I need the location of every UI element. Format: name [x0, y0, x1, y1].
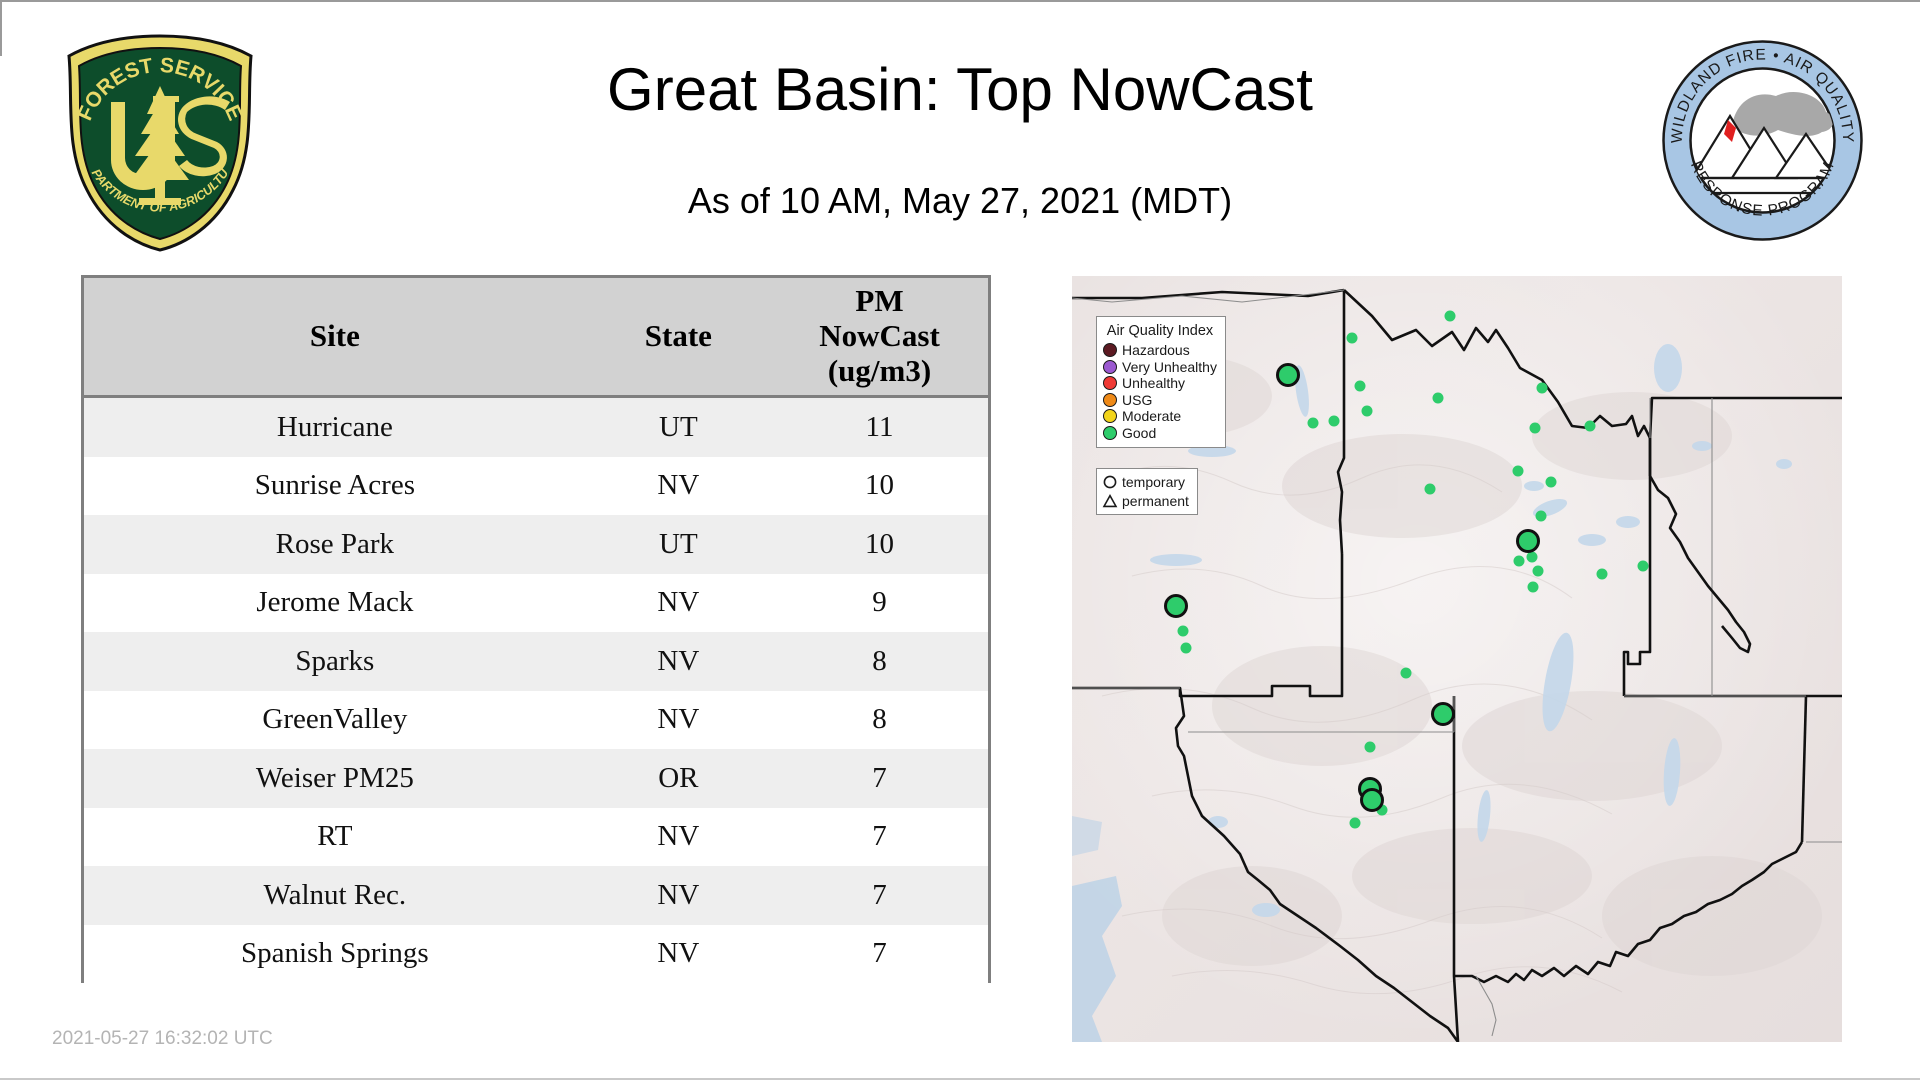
table-row[interactable]: RT NV 7: [84, 808, 988, 867]
monitor-site-dot[interactable]: [1445, 311, 1456, 322]
cell-state: NV: [586, 632, 771, 691]
monitor-site-dot[interactable]: [1362, 406, 1373, 417]
cell-pm: 10: [771, 457, 988, 516]
aqi-swatch-moderate-icon: [1103, 409, 1117, 423]
monitor-site-dot[interactable]: [1365, 742, 1376, 753]
aqi-label-unhealthy: Unhealthy: [1122, 376, 1185, 390]
aqi-legend-item-usg: USG: [1103, 392, 1217, 409]
table-row[interactable]: GreenValley NV 8: [84, 691, 988, 750]
aqi-legend-item-unhealthy: Unhealthy: [1103, 375, 1217, 392]
page-title: Great Basin: Top NowCast: [0, 58, 1920, 122]
cell-pm: 8: [771, 691, 988, 750]
monitor-site-dot[interactable]: [1528, 582, 1539, 593]
top-site-dot[interactable]: [1360, 788, 1384, 812]
monitor-site-dot[interactable]: [1347, 333, 1358, 344]
table-row[interactable]: Rose Park UT 10: [84, 515, 988, 574]
page-border-left: [0, 0, 2, 56]
monitor-site-dot[interactable]: [1308, 418, 1319, 429]
monitor-type-item-temporary: temporary: [1102, 472, 1189, 491]
monitor-type-label-permanent: permanent: [1122, 494, 1189, 508]
monitor-site-dot[interactable]: [1514, 556, 1525, 567]
column-header-site[interactable]: Site: [84, 278, 586, 397]
cell-site: Spanish Springs: [84, 925, 586, 984]
aqi-swatch-usg-icon: [1103, 393, 1117, 407]
cell-pm: 7: [771, 866, 988, 925]
nowcast-table: Site State PM NowCast (ug/m3) Hurricane …: [84, 278, 988, 983]
cell-pm: 10: [771, 515, 988, 574]
monitor-site-dot[interactable]: [1433, 393, 1444, 404]
triangle-icon: [1102, 493, 1118, 509]
top-site-dot[interactable]: [1431, 702, 1455, 726]
cell-state: NV: [586, 866, 771, 925]
cell-pm: 7: [771, 749, 988, 808]
table-row[interactable]: Weiser PM25 OR 7: [84, 749, 988, 808]
column-header-state[interactable]: State: [586, 278, 771, 397]
cell-state: NV: [586, 691, 771, 750]
monitor-site-dot[interactable]: [1533, 566, 1544, 577]
top-site-dot[interactable]: [1276, 363, 1300, 387]
monitor-site-dot[interactable]: [1527, 552, 1538, 563]
cell-pm: 7: [771, 925, 988, 984]
monitor-site-dot[interactable]: [1181, 643, 1192, 654]
cell-site: Rose Park: [84, 515, 586, 574]
cell-pm: 9: [771, 574, 988, 633]
column-header-pm-line2: NowCast: [819, 318, 940, 353]
cell-state: NV: [586, 457, 771, 516]
circle-icon: [1102, 474, 1118, 490]
aqi-legend-item-hazardous: Hazardous: [1103, 342, 1217, 359]
cell-state: UT: [586, 515, 771, 574]
aqi-label-moderate: Moderate: [1122, 409, 1181, 423]
table-row[interactable]: Sparks NV 8: [84, 632, 988, 691]
monitor-type-label-temporary: temporary: [1122, 475, 1185, 489]
cell-pm: 7: [771, 808, 988, 867]
cell-site: Weiser PM25: [84, 749, 586, 808]
top-site-dot[interactable]: [1516, 529, 1540, 553]
nowcast-table-container: Site State PM NowCast (ug/m3) Hurricane …: [81, 275, 991, 983]
monitor-site-dot[interactable]: [1536, 511, 1547, 522]
monitor-site-dot[interactable]: [1537, 383, 1548, 394]
monitor-site-dot[interactable]: [1585, 421, 1596, 432]
aqi-label-good: Good: [1122, 426, 1156, 440]
cell-site: Jerome Mack: [84, 574, 586, 633]
aqi-legend-item-moderate: Moderate: [1103, 408, 1217, 425]
cell-pm: 8: [771, 632, 988, 691]
aqi-swatch-good-icon: [1103, 426, 1117, 440]
monitor-site-dot[interactable]: [1530, 423, 1541, 434]
table-row[interactable]: Hurricane UT 11: [84, 397, 988, 457]
monitor-site-dot[interactable]: [1638, 561, 1649, 572]
monitor-type-item-permanent: permanent: [1102, 491, 1189, 510]
monitor-site-dot[interactable]: [1178, 626, 1189, 637]
aqi-legend-item-very-unhealthy: Very Unhealthy: [1103, 359, 1217, 376]
cell-state: NV: [586, 925, 771, 984]
aqi-label-very-unhealthy: Very Unhealthy: [1122, 360, 1217, 374]
column-header-pm-line3: (ug/m3): [828, 353, 931, 388]
cell-site: Hurricane: [84, 397, 586, 457]
column-header-state-label: State: [645, 318, 712, 353]
monitor-type-legend: temporary permanent: [1096, 468, 1198, 515]
cell-state: NV: [586, 574, 771, 633]
monitor-site-dot[interactable]: [1401, 668, 1412, 679]
table-header-row: Site State PM NowCast (ug/m3): [84, 278, 988, 397]
column-header-pm-nowcast[interactable]: PM NowCast (ug/m3): [771, 278, 988, 397]
column-header-pm-line1: PM: [855, 283, 903, 318]
table-row[interactable]: Sunrise Acres NV 10: [84, 457, 988, 516]
cell-state: OR: [586, 749, 771, 808]
monitor-site-dot[interactable]: [1597, 569, 1608, 580]
monitor-site-dot[interactable]: [1355, 381, 1366, 392]
table-row[interactable]: Jerome Mack NV 9: [84, 574, 988, 633]
cell-site: Sparks: [84, 632, 586, 691]
aqi-legend-item-good: Good: [1103, 425, 1217, 442]
table-row[interactable]: Walnut Rec. NV 7: [84, 866, 988, 925]
page-subtitle: As of 10 AM, May 27, 2021 (MDT): [0, 180, 1920, 222]
cell-site: Sunrise Acres: [84, 457, 586, 516]
table-body: Hurricane UT 11 Sunrise Acres NV 10 Rose…: [84, 397, 988, 984]
cell-pm: 11: [771, 397, 988, 457]
monitor-site-dot[interactable]: [1513, 466, 1524, 477]
cell-site: GreenValley: [84, 691, 586, 750]
aqi-swatch-hazardous-icon: [1103, 343, 1117, 357]
monitor-site-dot[interactable]: [1546, 477, 1557, 488]
aqi-label-hazardous: Hazardous: [1122, 343, 1190, 357]
cell-state: NV: [586, 808, 771, 867]
monitor-site-dot[interactable]: [1350, 818, 1361, 829]
cell-site: Walnut Rec.: [84, 866, 586, 925]
top-site-dot[interactable]: [1164, 594, 1188, 618]
page-border-top: [0, 0, 1920, 2]
aqi-legend: Air Quality Index Hazardous Very Unhealt…: [1096, 316, 1226, 448]
aqi-swatch-unhealthy-icon: [1103, 376, 1117, 390]
monitor-site-dot[interactable]: [1329, 416, 1340, 427]
cell-site: RT: [84, 808, 586, 867]
column-header-site-label: Site: [310, 318, 360, 353]
aqi-swatch-very-unhealthy-icon: [1103, 360, 1117, 374]
aqi-legend-title: Air Quality Index: [1103, 323, 1217, 339]
aqi-label-usg: USG: [1122, 393, 1152, 407]
table-row[interactable]: Spanish Springs NV 7: [84, 925, 988, 984]
air-quality-map[interactable]: Air Quality Index Hazardous Very Unhealt…: [1072, 276, 1842, 1042]
table-header: Site State PM NowCast (ug/m3): [84, 278, 988, 397]
footer-timestamp: 2021-05-27 16:32:02 UTC: [52, 1028, 273, 1050]
cell-state: UT: [586, 397, 771, 457]
monitor-site-dot[interactable]: [1425, 484, 1436, 495]
